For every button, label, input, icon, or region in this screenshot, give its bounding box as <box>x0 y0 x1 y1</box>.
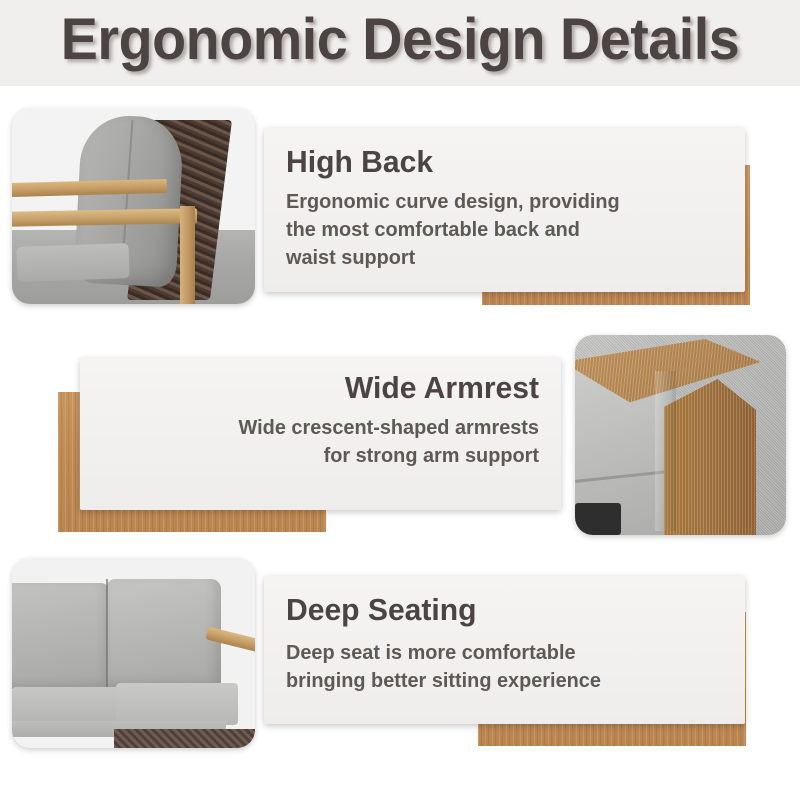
feature-line: the most comfortable back and <box>286 216 731 244</box>
feature-photo-wide-armrest <box>575 335 786 535</box>
feature-line: for strong arm support <box>94 442 539 470</box>
feature-photo-high-back <box>12 108 255 304</box>
feature-line: bringing better sitting experience <box>286 667 731 695</box>
text-card-deep-seating: Deep Seating Deep seat is more comfortab… <box>264 576 745 724</box>
feature-line: Wide crescent-shaped armrests <box>94 414 539 442</box>
feature-heading-deep-seating: Deep Seating <box>286 594 731 627</box>
feature-heading-wide-armrest: Wide Armrest <box>94 372 539 405</box>
feature-line: Deep seat is more comfortable <box>286 639 731 667</box>
infographic-page: Ergonomic Design Details High Back Ergon… <box>0 0 800 800</box>
feature-line: Ergonomic curve design, providing <box>286 188 731 216</box>
feature-line: waist support <box>286 244 731 272</box>
text-card-wide-armrest: Wide Armrest Wide crescent-shaped armres… <box>80 358 561 510</box>
feature-photo-deep-seating <box>12 558 255 748</box>
feature-heading-high-back: High Back <box>286 146 731 179</box>
text-card-high-back: High Back Ergonomic curve design, provid… <box>264 128 745 292</box>
page-title: Ergonomic Design Details <box>16 6 784 73</box>
